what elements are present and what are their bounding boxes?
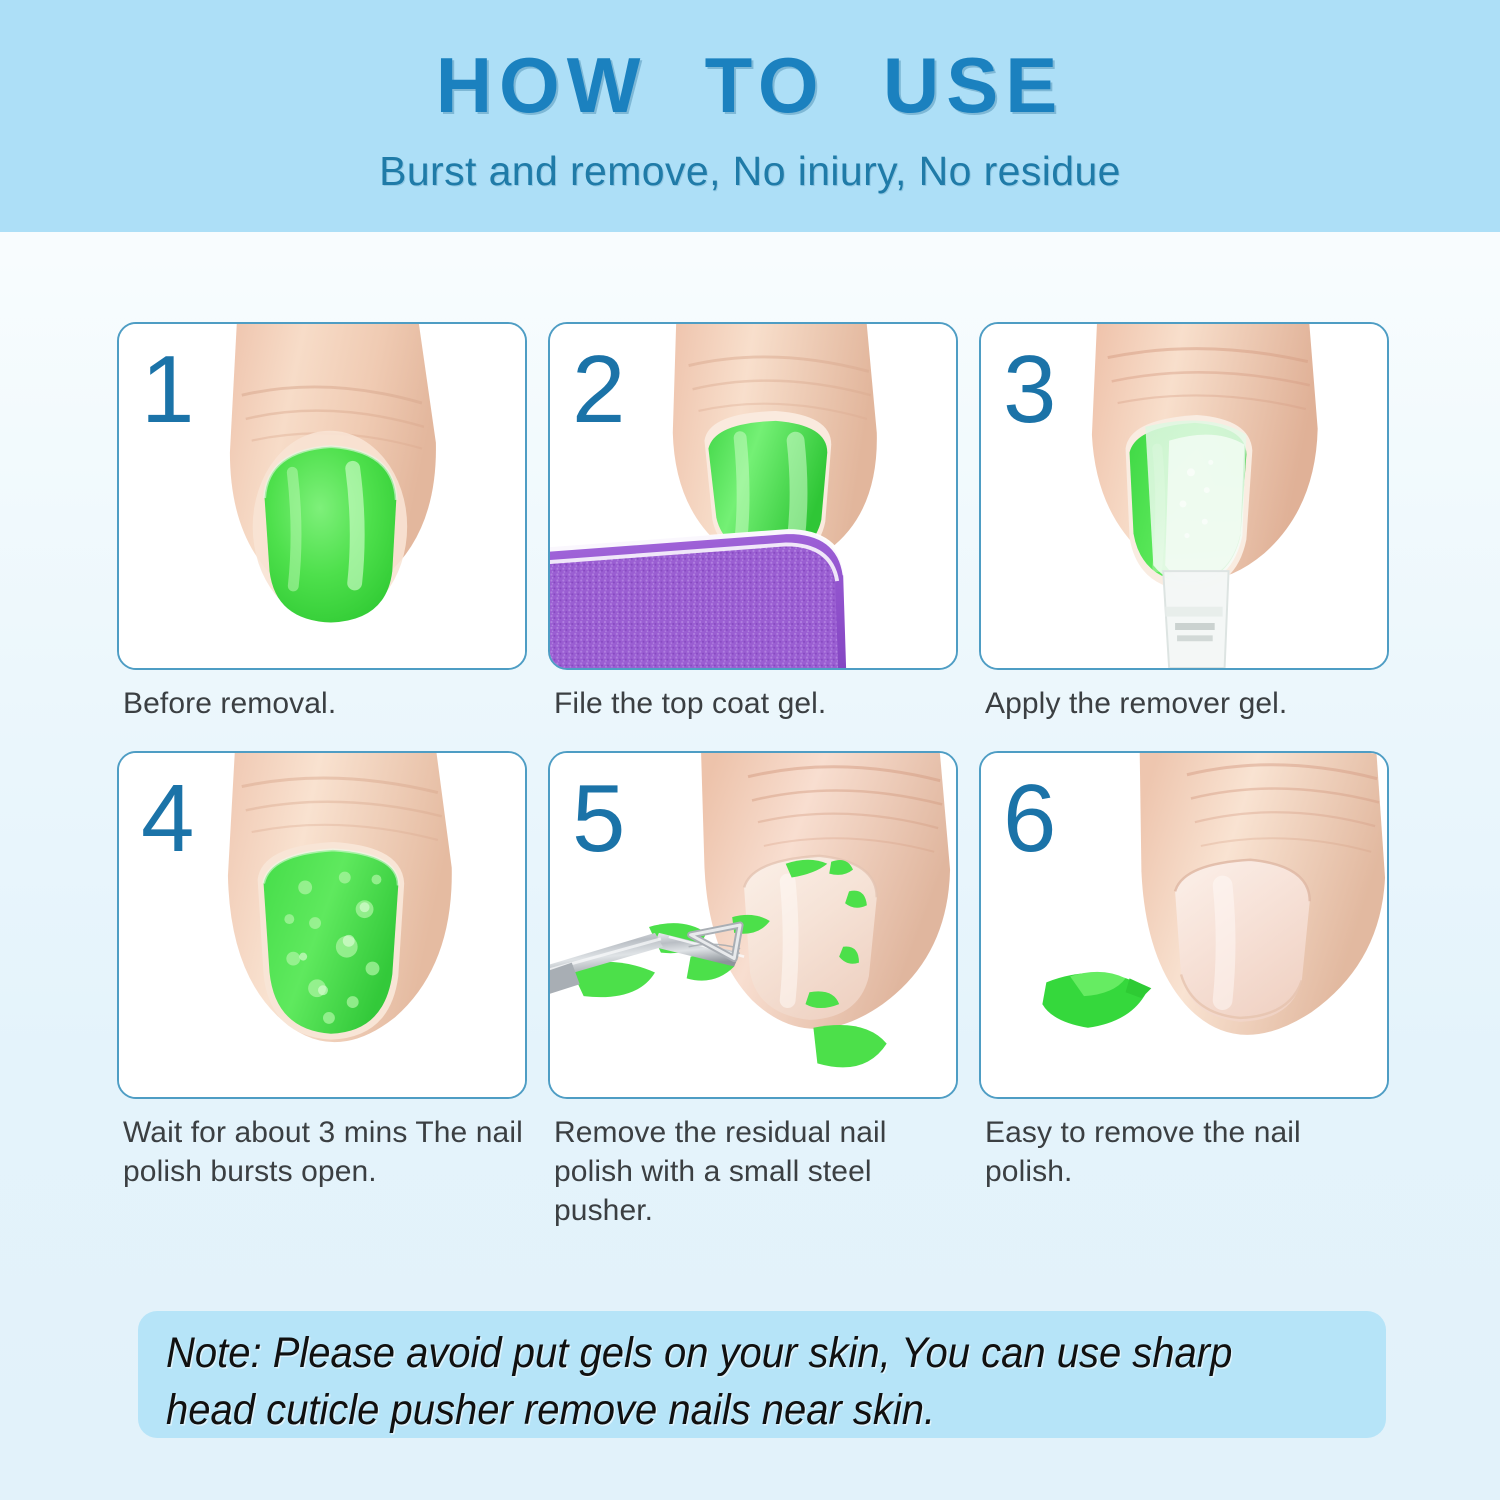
steps-grid: 1 Before removal.	[117, 322, 1389, 1230]
step-number-6: 6	[1003, 761, 1056, 876]
step-photo-4: 4	[117, 751, 527, 1099]
step-caption-4: Wait for about 3 mins The nail polish bu…	[117, 1113, 527, 1191]
step-card-4: 4 Wait for about 3 mins The nail polish …	[117, 751, 527, 1230]
step-number-5: 5	[572, 761, 625, 876]
note-box: Note: Please avoid put gels on your skin…	[138, 1311, 1386, 1438]
step-number-2: 2	[572, 332, 625, 447]
step-caption-5: Remove the residual nail polish with a s…	[548, 1113, 958, 1230]
step-number-3: 3	[1003, 332, 1056, 447]
step-photo-1: 1	[117, 322, 527, 670]
infographic-page: HOW TO USE Burst and remove, No iniury, …	[0, 0, 1500, 1500]
step-card-5: 5 Remove the residual nail polish with a…	[548, 751, 958, 1230]
step-card-1: 1 Before removal.	[117, 322, 527, 723]
step-photo-6: 6	[979, 751, 1389, 1099]
step-card-2: 2 File the top coat gel.	[548, 322, 958, 723]
step-caption-2: File the top coat gel.	[548, 684, 958, 723]
note-text: Note: Please avoid put gels on your skin…	[166, 1325, 1273, 1439]
page-title: HOW TO USE	[436, 46, 1065, 126]
step-photo-3: 3	[979, 322, 1389, 670]
step-photo-2: 2	[548, 322, 958, 670]
step-photo-5: 5	[548, 751, 958, 1099]
header-banner: HOW TO USE Burst and remove, No iniury, …	[0, 0, 1500, 232]
step-caption-3: Apply the remover gel.	[979, 684, 1389, 723]
page-subtitle: Burst and remove, No iniury, No residue	[379, 148, 1121, 195]
step-caption-6: Easy to remove the nail polish.	[979, 1113, 1389, 1191]
step-caption-1: Before removal.	[117, 684, 527, 723]
step-number-1: 1	[141, 332, 194, 447]
step-number-4: 4	[141, 761, 194, 876]
step-card-3: 3 Apply the remover gel.	[979, 322, 1389, 723]
step-card-6: 6 Easy to remove the nail polish.	[979, 751, 1389, 1230]
